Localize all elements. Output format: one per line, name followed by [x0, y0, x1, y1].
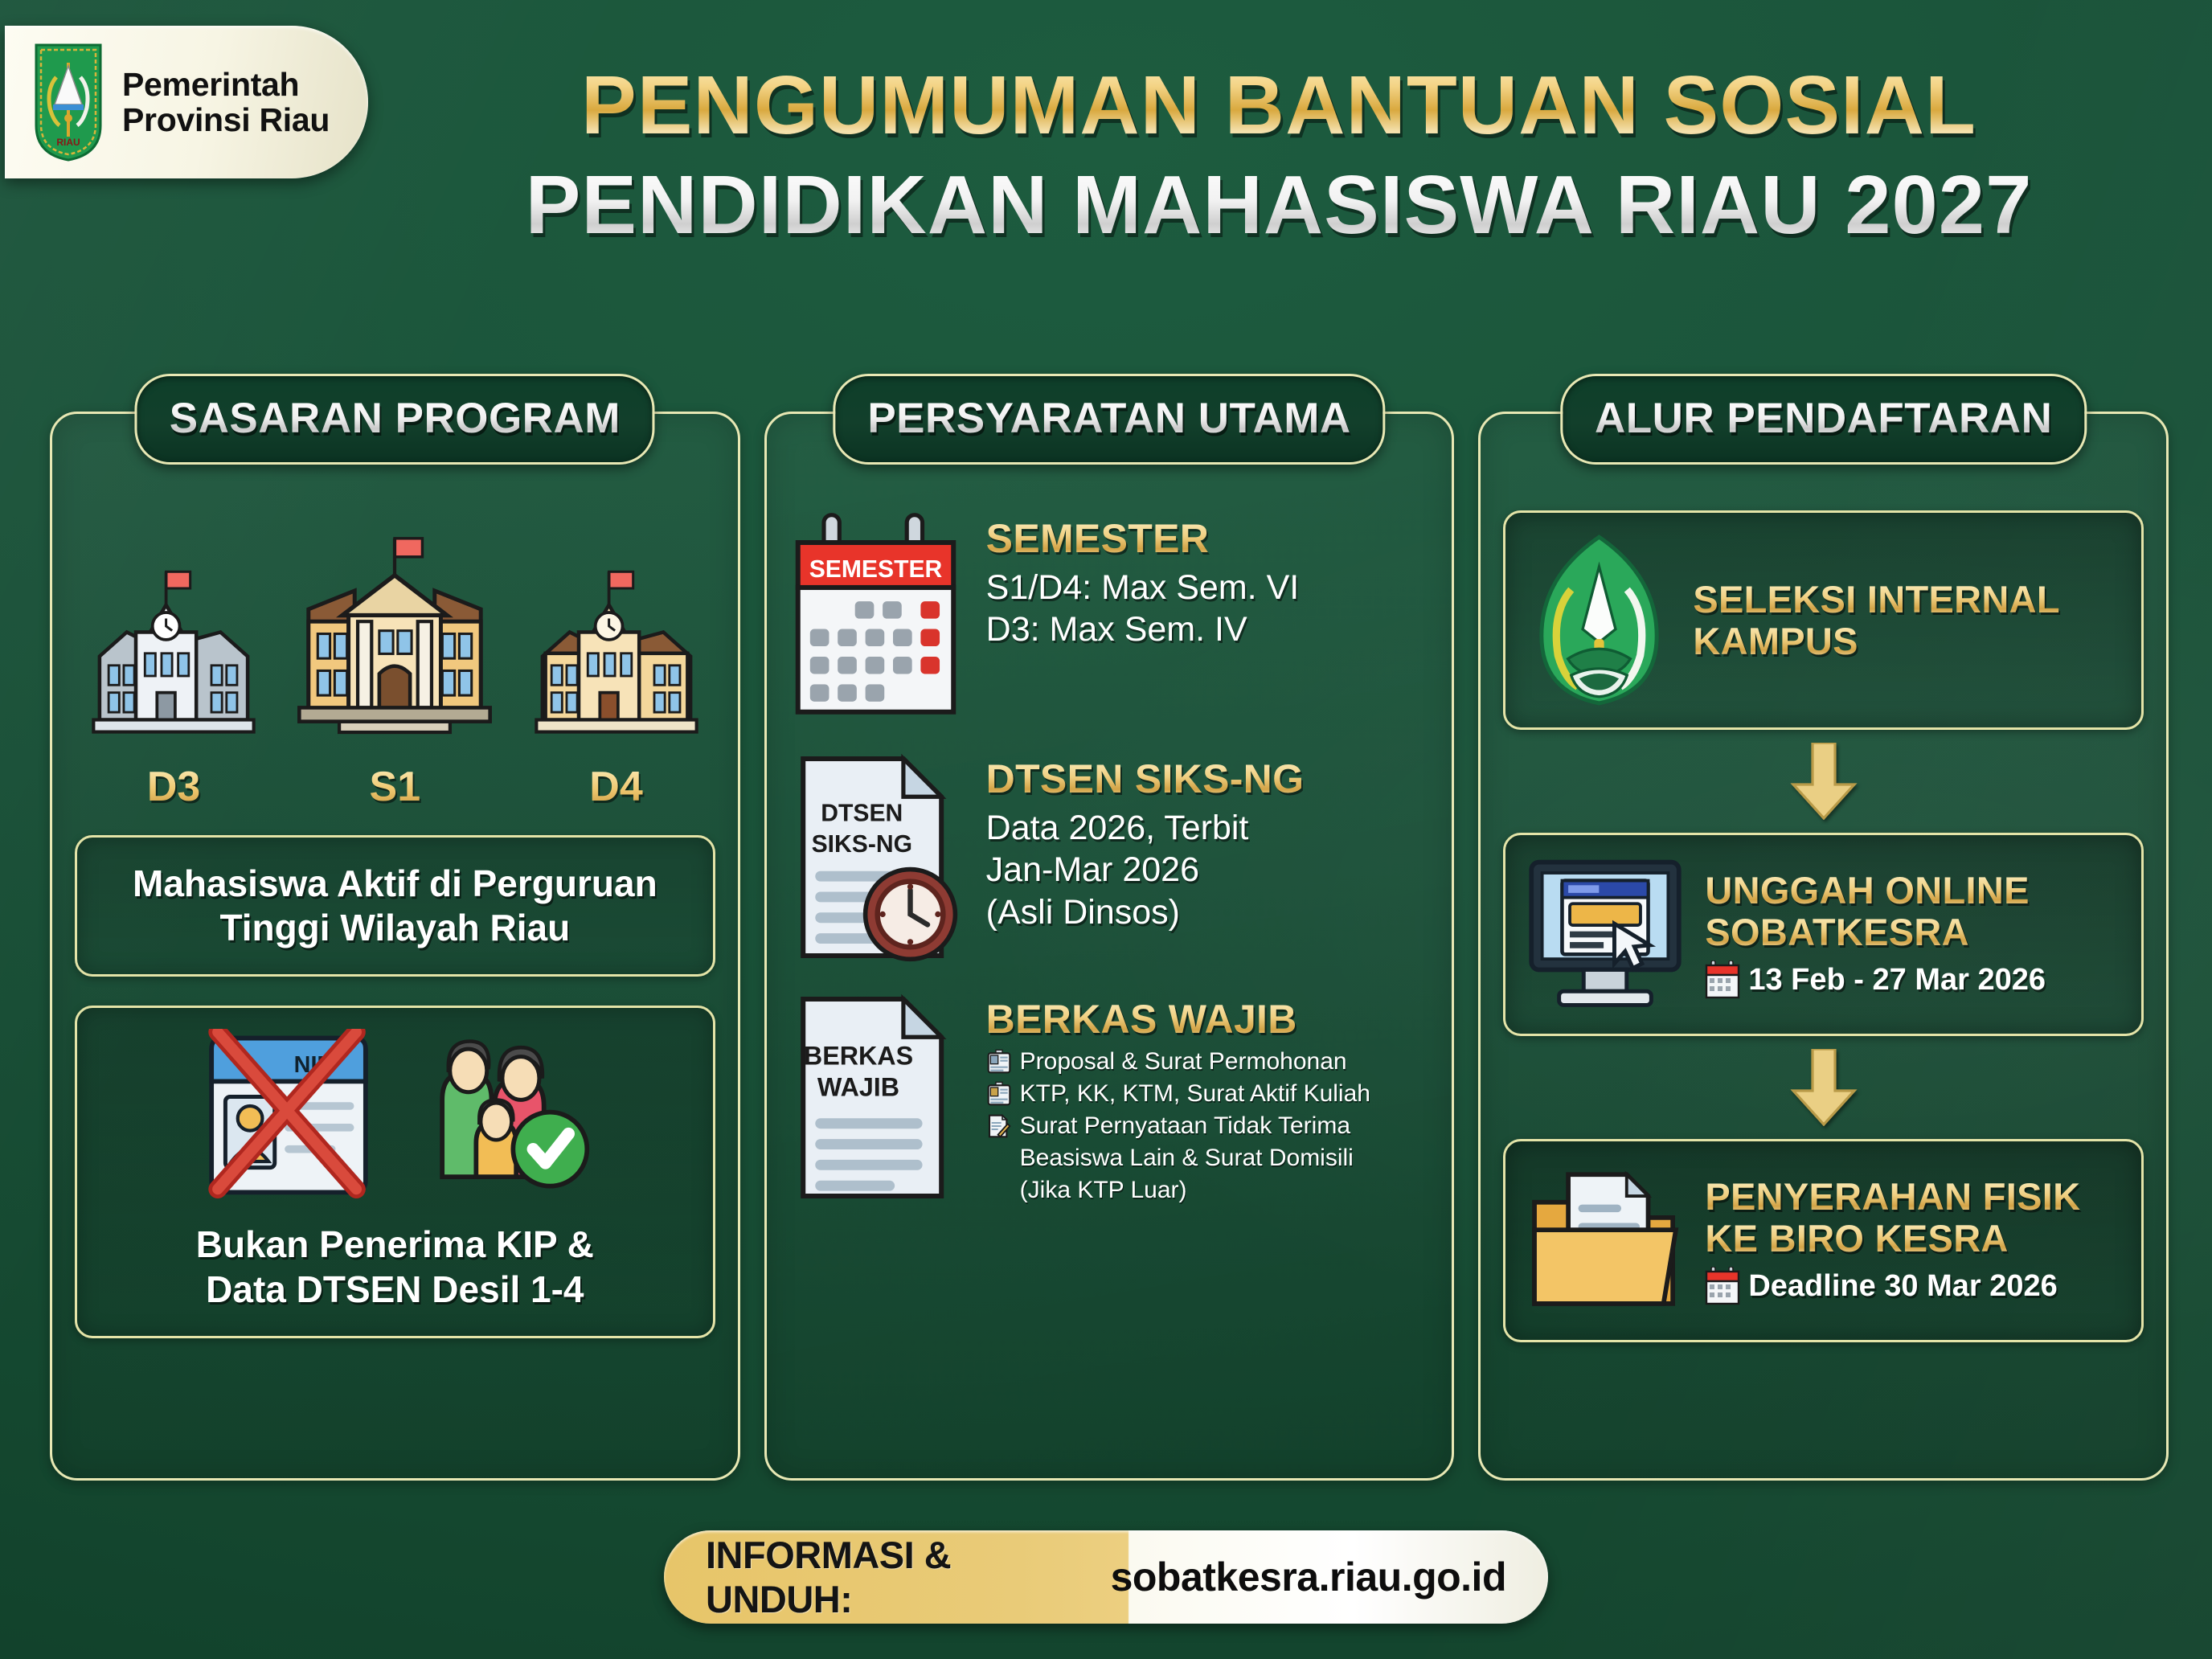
- flow-step-date: Deadline 30 Mar 2026: [1748, 1269, 2057, 1304]
- column-alur-pendaftaran: ALUR PENDAFTARAN SELEKSI INTERNAL KAMPU: [1478, 412, 2169, 1481]
- calendar-semester-icon: SEMESTER: [789, 510, 962, 723]
- berkas-continuation-line: Beasiswa Lain & Surat Domisili: [986, 1144, 1430, 1173]
- flow-step-penyerahan-fisik[interactable]: PENYERAHAN FISIK KE BIRO KESRA Deadline …: [1503, 1139, 2144, 1342]
- id-card-icon: [986, 1081, 1012, 1107]
- calendar-icon-label: SEMESTER: [809, 556, 942, 583]
- berkas-continuation-line: (Jika KTP Luar): [986, 1176, 1430, 1205]
- flow-step-title-line-2: SOBATKESRA: [1705, 911, 2122, 953]
- column-heading-label: SASARAN PROGRAM: [170, 395, 621, 442]
- flow-step-date-row: Deadline 30 Mar 2026: [1705, 1267, 2122, 1305]
- info-url[interactable]: sobatkesra.riau.go.id: [1111, 1554, 1506, 1600]
- calendar-icon: [1705, 1267, 1740, 1305]
- requirement-line: (Asli Dinsos): [986, 891, 1430, 933]
- active-student-box: Mahasiswa Aktif di Perguruan Tinggi Wila…: [75, 835, 715, 977]
- flow-step-title-line-1: SELEKSI INTERNAL: [1693, 579, 2122, 621]
- government-logo-badge: RIAU Pemerintah Provinsi Riau: [5, 26, 368, 178]
- flow-step-title-line-2: KAMPUS: [1693, 621, 2122, 662]
- riau-provincial-crest-icon: RIAU: [32, 42, 104, 162]
- berkas-text: Beasiswa Lain & Surat Domisili: [1020, 1144, 1354, 1173]
- flow-step-unggah-online[interactable]: UNGGAH ONLINE SOBATKESRA 13 Feb - 27 Mar…: [1503, 833, 2144, 1036]
- kip-exclusion-box: NIP: [75, 1006, 715, 1337]
- requirement-line: S1/D4: Max Sem. VI: [986, 567, 1430, 608]
- desktop-upload-icon: [1525, 856, 1686, 1013]
- berkas-list-item: Proposal & Surat Permohonan: [986, 1047, 1430, 1076]
- id-card-icon: [986, 1049, 1012, 1075]
- flow-step-title-line-1: PENYERAHAN FISIK: [1705, 1176, 2122, 1218]
- requirement-berkas: BERKAS WAJIB BERKAS WAJIB: [789, 991, 1430, 1205]
- flow-step-text: UNGGAH ONLINE SOBATKESRA 13 Feb - 27 Mar…: [1705, 870, 2122, 999]
- berkas-list-item: KTP, KK, KTM, Surat Aktif Kuliah: [986, 1079, 1430, 1108]
- arrow-down-icon: [1790, 1049, 1858, 1126]
- info-label: INFORMASI & UNDUH:: [706, 1533, 1098, 1621]
- university-building-icon: [287, 535, 502, 752]
- requirement-title: SEMESTER: [986, 515, 1430, 562]
- active-student-line-1: Mahasiswa Aktif di Perguruan: [95, 862, 695, 906]
- column-heading-label: PERSYARATAN UTAMA: [867, 395, 1350, 442]
- arrow-down-icon: [1790, 743, 1858, 820]
- requirement-body: SEMESTER S1/D4: Max Sem. VI D3: Max Sem.…: [986, 510, 1430, 651]
- berkas-text: KTP, KK, KTM, Surat Aktif Kuliah: [1020, 1079, 1370, 1108]
- berkas-text: Surat Pernyataan Tidak Terima: [1020, 1112, 1350, 1141]
- requirement-line: Data 2026, Terbit: [986, 807, 1430, 849]
- page-title: PENGUMUMAN BANTUAN SOSIAL PENDIDIKAN MAH…: [378, 58, 2180, 252]
- requirement-title: DTSEN SIKS-NG: [986, 756, 1430, 802]
- flow-step-date-row: 13 Feb - 27 Mar 2026: [1705, 961, 2122, 999]
- folder-document-icon: [1525, 1162, 1686, 1319]
- id-card-crossed-out-icon: NIP: [196, 1029, 381, 1202]
- column-sasaran-program: SASARAN PROGRAM: [50, 412, 740, 1481]
- level-label: D3: [147, 763, 200, 811]
- doc-icon-label-1: DTSEN: [821, 800, 903, 826]
- kip-line-2: Data DTSEN Desil 1-4: [95, 1268, 695, 1312]
- column-heading-alur: ALUR PENDAFTARAN: [1560, 374, 2087, 465]
- content-columns: SASARAN PROGRAM: [50, 412, 2169, 1481]
- berkas-text: Proposal & Surat Permohonan: [1020, 1047, 1347, 1076]
- calendar-icon: [1705, 961, 1740, 999]
- doc-icon-label-1: BERKAS: [804, 1042, 913, 1071]
- level-item: S1: [287, 535, 502, 811]
- signed-document-icon: [986, 1113, 1012, 1139]
- document-clock-icon: DTSEN SIKS-NG: [789, 751, 962, 964]
- logo-line-1: Pemerintah: [122, 67, 330, 102]
- flow-step-text: PENYERAHAN FISIK KE BIRO KESRA Deadline …: [1705, 1176, 2122, 1305]
- info-download-banner[interactable]: INFORMASI & UNDUH: sobatkesra.riau.go.id: [664, 1530, 1548, 1624]
- title-line-1: PENGUMUMAN BANTUAN SOSIAL: [378, 58, 2180, 153]
- logo-text-block: Pemerintah Provinsi Riau: [122, 67, 330, 138]
- svg-text:RIAU: RIAU: [56, 137, 80, 148]
- level-label: D4: [589, 763, 642, 811]
- column-persyaratan-utama: PERSYARATAN UTAMA SEMESTER: [764, 412, 1455, 1481]
- column-heading-sasaran: SASARAN PROGRAM: [135, 374, 655, 465]
- flow-step-text: SELEKSI INTERNAL KAMPUS: [1693, 579, 2122, 662]
- school-building-tan-icon: [532, 563, 701, 752]
- flow-step-title-line-2: KE BIRO KESRA: [1705, 1218, 2122, 1260]
- riau-emblem-icon: [1525, 534, 1673, 707]
- requirement-semester: SEMESTER SEMESTER S1/D4:: [789, 510, 1430, 723]
- requirement-body: DTSEN SIKS-NG Data 2026, Terbit Jan-Mar …: [986, 751, 1430, 933]
- requirement-line: Jan-Mar 2026: [986, 849, 1430, 891]
- column-heading-label: ALUR PENDAFTARAN: [1595, 395, 2052, 442]
- flow-step-date: 13 Feb - 27 Mar 2026: [1748, 963, 2046, 997]
- column-heading-persyaratan: PERSYARATAN UTAMA: [833, 374, 1385, 465]
- requirement-title: BERKAS WAJIB: [986, 996, 1430, 1043]
- doc-icon-label-2: WAJIB: [817, 1072, 899, 1101]
- flow-step-title-line-1: UNGGAH ONLINE: [1705, 870, 2122, 911]
- requirement-line: D3: Max Sem. IV: [986, 608, 1430, 650]
- document-checklist-icon: BERKAS WAJIB: [789, 991, 962, 1204]
- flow-step-seleksi-internal[interactable]: SELEKSI INTERNAL KAMPUS: [1503, 510, 2144, 730]
- kip-line-1: Bukan Penerima KIP &: [95, 1223, 695, 1267]
- berkas-list-item: Surat Pernyataan Tidak Terima: [986, 1112, 1430, 1141]
- level-label: S1: [370, 763, 421, 811]
- family-approved-icon: [408, 1029, 593, 1202]
- logo-line-2: Provinsi Riau: [122, 102, 330, 137]
- active-student-line-2: Tinggi Wilayah Riau: [95, 906, 695, 950]
- doc-icon-label-2: SIKS-NG: [811, 831, 911, 858]
- kip-icons-row: NIP: [95, 1029, 695, 1202]
- level-item: D4: [532, 563, 701, 811]
- level-item: D3: [89, 563, 258, 811]
- title-line-2: PENDIDIKAN MAHASISWA RIAU 2027: [378, 158, 2180, 252]
- education-levels-group: D3: [75, 535, 715, 811]
- requirement-body: BERKAS WAJIB Proposal & Surat Permohonan: [986, 991, 1430, 1205]
- requirement-dtsen: DTSEN SIKS-NG DTSEN SIKS-NG Data: [789, 751, 1430, 964]
- school-building-grey-icon: [89, 563, 258, 752]
- registration-flow: SELEKSI INTERNAL KAMPUS: [1503, 510, 2144, 1342]
- berkas-text: (Jika KTP Luar): [1020, 1176, 1187, 1205]
